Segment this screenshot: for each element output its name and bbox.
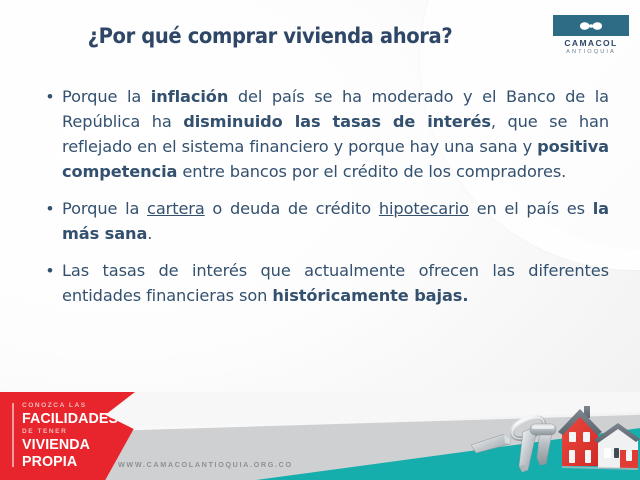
key-flat xyxy=(471,434,510,453)
bullet-text-3: Las tasas de interés que actualmente ofr… xyxy=(62,258,609,308)
logo-mark xyxy=(553,15,629,36)
text-segment-underline: cartera xyxy=(147,199,205,218)
bullet-marker: • xyxy=(44,258,62,283)
eye-emblem-icon xyxy=(578,19,604,32)
list-item: • Porque la inflación del país se ha mod… xyxy=(44,84,609,184)
list-item: • Las tasas de interés que actualmente o… xyxy=(44,258,609,308)
bullet-text-1: Porque la inflación del país se ha moder… xyxy=(62,84,609,184)
bullet-marker: • xyxy=(44,84,62,109)
text-segment: en el país es xyxy=(469,199,593,218)
slide-canvas: ¿Por qué comprar vivienda ahora? CAMACOL… xyxy=(0,0,640,480)
website-url: WWW.CAMACOLANTIOQUIA.ORG.CO xyxy=(118,460,293,469)
house-keychain-illustration xyxy=(466,398,640,480)
slide-header: ¿Por qué comprar vivienda ahora? CAMACOL… xyxy=(0,0,640,72)
promo-line-4: VIVIENDA xyxy=(22,436,125,453)
text-segment-underline: hipotecario xyxy=(379,199,469,218)
promo-line-5: PROPIA xyxy=(22,453,125,470)
promo-line-3: DE TENER xyxy=(22,427,130,436)
house-charm xyxy=(558,406,640,470)
text-segment: Porque la xyxy=(62,199,147,218)
text-segment: o deuda de crédito xyxy=(205,199,379,218)
text-segment: . xyxy=(147,224,152,243)
house-keys-graphic xyxy=(466,398,640,480)
key-barrel xyxy=(530,424,556,435)
bullet-list: • Porque la inflación del país se ha mod… xyxy=(44,84,609,320)
text-segment-bold: disminuido las tasas de interés xyxy=(183,112,491,131)
text-segment: entre bancos por el crédito de los compr… xyxy=(177,162,566,181)
text-segment: Porque la xyxy=(62,87,151,106)
bullet-text-2: Porque la cartera o deuda de crédito hip… xyxy=(62,196,609,246)
camacol-logo: CAMACOL ANTIOQUIA xyxy=(553,15,629,56)
text-segment-bold: históricamente bajas. xyxy=(272,286,468,305)
logo-name: CAMACOL xyxy=(553,38,629,48)
promo-tag-rule xyxy=(12,403,14,467)
logo-subtitle: ANTIOQUIA xyxy=(553,48,629,56)
bullet-marker: • xyxy=(44,196,62,221)
list-item: • Porque la cartera o deuda de crédito h… xyxy=(44,196,609,246)
text-segment-bold: inflación xyxy=(151,87,228,106)
page-title: ¿Por qué comprar vivienda ahora? xyxy=(19,24,521,48)
